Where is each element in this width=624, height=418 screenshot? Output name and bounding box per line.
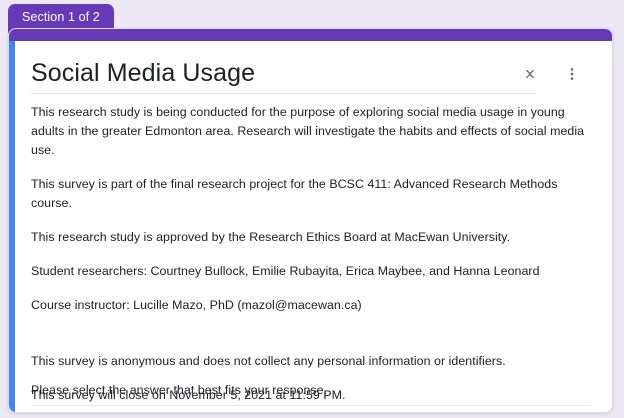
more-vert-icon [564,66,580,82]
question-divider [31,405,591,406]
description-paragraph: This survey is part of the final researc… [31,175,594,213]
question-title: Please select the answer that best fits … [31,381,594,400]
form-description: This research study is being conducted f… [31,103,594,405]
description-paragraph: This survey is anonymous and does not co… [31,352,594,371]
card-header-row: Social Media Usage [31,57,590,97]
more-options-button[interactable] [562,63,582,85]
description-paragraph: This research study is approved by the R… [31,228,594,247]
description-paragraph: This research study is being conducted f… [31,103,594,160]
form-section-card: Social Media Usage [8,28,613,413]
question-block[interactable]: Please select the answer that best fits … [31,381,594,406]
title-divider [31,93,536,94]
header-actions [520,63,582,85]
description-paragraph: Course instructor: Lucille Mazo, PhD (ma… [31,296,594,315]
collapse-section-button[interactable] [520,63,540,85]
page-title: Social Media Usage [31,57,255,89]
card-body: Social Media Usage [15,41,612,412]
collapse-icon [522,66,538,82]
card-accent-top-bar [9,29,613,41]
description-paragraph: Student researchers: Courtney Bullock, E… [31,262,594,281]
